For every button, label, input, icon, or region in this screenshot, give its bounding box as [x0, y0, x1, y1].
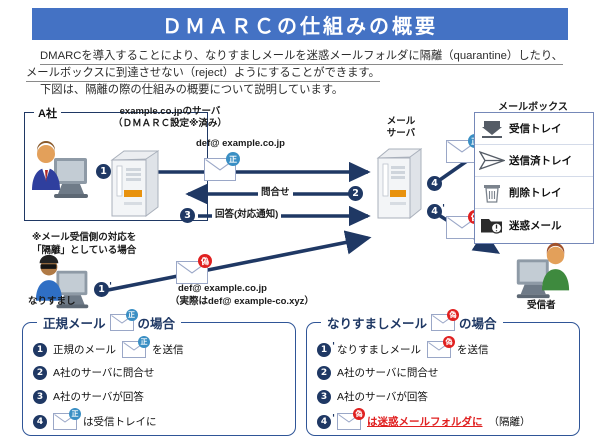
mailbox-row-trash[interactable]: 削除トレイ [475, 177, 593, 209]
company-label: A社 [34, 105, 61, 121]
recipient-person-icon [508, 240, 574, 302]
legend-left-text-1b: を送信 [152, 342, 184, 357]
legend-right-text-1a: なりすましメール [337, 342, 421, 357]
legend-right-text-2: A社のサーバに問合せ [337, 365, 438, 380]
mailbox-panel: 受信トレイ 送信済トレイ 削除トレイ [474, 112, 594, 244]
legend-right-title-stamp: 偽 [447, 309, 459, 321]
legend-left-title-envelope: 正 [110, 314, 134, 331]
legend-left-envelope-4: 正 [53, 413, 77, 430]
trash-icon [475, 183, 509, 203]
step-3-badge: 3 [180, 208, 195, 223]
header-banner: ＤＭＡＲＣの仕組みの概要 [32, 8, 568, 40]
legend-left-title: 正規メール 正 の場合 [37, 313, 181, 332]
legend-left-row-1: 1 正規のメール 正 を送信 [33, 341, 184, 358]
company-server-label-2: （ＤＭＡＲＣ設定※済み） [96, 118, 244, 130]
fake-mail-actual-address: （実際はdef@ example-co.xyz） [170, 296, 314, 308]
legend-spoofed-mail: なりすましメール 偽 の場合 1 なりすましメール 偽 を送信 2 A社のサーバ… [306, 322, 580, 436]
inquiry-arrow-label: 問合せ [258, 187, 293, 199]
mailbox-label-sent: 送信済トレイ [509, 153, 572, 168]
sender-person-icon [28, 138, 94, 202]
diagram-canvas: A社 example.co.jpのサーバ （ＤＭＡＲＣ設定※済み） ※メール受信… [0, 100, 600, 318]
fake-mail-address: def@ example.co.jp [178, 283, 267, 295]
intro-paragraph: DMARCを導入することにより、なりすましメールを迷惑メールフォルダに隔離（qu… [26, 48, 582, 99]
legend-right-stamp-1: 偽 [443, 336, 455, 348]
mail-server-label-2: サーバ [358, 128, 444, 140]
mailbox-row-sent[interactable]: 送信済トレイ [475, 145, 593, 177]
fake-mail-stamp: 偽 [198, 254, 212, 268]
mailbox-label-spam: 迷惑メール [509, 218, 562, 233]
sent-icon [475, 151, 509, 170]
legend-left-text-3: A社のサーバが回答 [53, 389, 144, 404]
legend-left-title-post: の場合 [138, 313, 176, 332]
legend-left-stamp-4: 正 [69, 408, 81, 420]
company-server-icon [104, 146, 168, 220]
legend-left-num-3: 3 [33, 390, 47, 404]
step-2-badge: 2 [348, 186, 363, 201]
legend-left-num-4: 4 [33, 415, 47, 429]
step-1-badge: 1 [96, 164, 111, 179]
legend-right-row-1: 1 なりすましメール 偽 を送信 [317, 341, 489, 358]
legend-left-title-stamp: 正 [126, 309, 138, 321]
legend-right-num-3: 3 [317, 390, 331, 404]
legend-right-text-3: A社のサーバが回答 [337, 389, 428, 404]
legend-right-title-pre: なりすましメール [327, 313, 427, 332]
legend-left-num-2: 2 [33, 366, 47, 380]
mailbox-row-inbox[interactable]: 受信トレイ [475, 113, 593, 145]
spoofer-label: なりすまし [28, 296, 76, 308]
legend-left-stamp-1: 正 [138, 336, 150, 348]
legend-left-num-1: 1 [33, 343, 47, 357]
mailbox-title: メールボックス [474, 98, 592, 113]
legend-right-envelope-4: 偽 [337, 413, 361, 430]
inbox-icon [475, 119, 509, 138]
legend-right-envelope-1: 偽 [427, 341, 451, 358]
legend-right-title: なりすましメール 偽 の場合 [321, 313, 503, 332]
company-server-label-1: example.co.jpのサーバ [96, 106, 244, 118]
legend-right-text-1b: を送信 [457, 342, 489, 357]
legend-right-stamp-4: 偽 [353, 408, 365, 420]
legend-left-title-pre: 正規メール [43, 313, 106, 332]
legend-left-row-3: 3 A社のサーバが回答 [33, 389, 144, 404]
legend-right-num-4: 4 [317, 415, 331, 429]
legend-legitimate-mail: 正規メール 正 の場合 1 正規のメール 正 を送信 2 A社のサーバに問合せ … [22, 322, 296, 436]
mailbox-label-trash: 削除トレイ [509, 185, 562, 200]
legend-left-row-2: 2 A社のサーバに問合せ [33, 365, 154, 380]
legend-left-envelope-1: 正 [122, 341, 146, 358]
legend-right-num-1: 1 [317, 343, 331, 357]
legend-right-row-4: 4 偽 は迷惑メールフォルダに （隔離） [317, 413, 531, 430]
legit-mail-stamp: 正 [226, 152, 240, 166]
legend-left-text-2: A社のサーバに問合せ [53, 365, 154, 380]
mailbox-label-inbox: 受信トレイ [509, 121, 562, 136]
legend-left-row-4: 4 正 は受信トレイに [33, 413, 157, 430]
mailbox-row-spam[interactable]: 迷惑メール [475, 209, 593, 241]
quarantine-note-line-1: ※メール受信側の対応を [32, 232, 136, 244]
mail-server-label-1: メール [358, 116, 444, 128]
legend-right-text-4-red: は迷惑メールフォルダに [367, 414, 483, 429]
spam-icon [475, 215, 509, 235]
legend-left-text-4: は受信トレイに [83, 414, 157, 429]
recipient-label: 受信者 [527, 300, 556, 312]
page-title: ＤＭＡＲＣの仕組みの概要 [162, 10, 438, 39]
legend-right-num-2: 2 [317, 366, 331, 380]
legend-right-row-2: 2 A社のサーバに問合せ [317, 365, 438, 380]
answer-arrow-label: 回答(対応通知) [212, 209, 281, 221]
legend-left-text-1a: 正規のメール [53, 342, 116, 357]
intro-line-3: 下図は、隔離の際の仕組みの概要について説明しています。 [26, 82, 582, 99]
legend-right-title-post: の場合 [459, 313, 497, 332]
legend-right-text-4: （隔離） [489, 414, 531, 429]
intro-line-2: メールボックスに到達させない（reject）ようにすることができます。 [26, 65, 582, 82]
legit-mail-address: def@ example.co.jp [196, 138, 285, 150]
mail-server-icon [372, 144, 430, 226]
intro-line-1: DMARCを導入することにより、なりすましメールを迷惑メールフォルダに隔離（qu… [26, 48, 582, 65]
legend-right-row-3: 3 A社のサーバが回答 [317, 389, 428, 404]
legend-right-title-envelope: 偽 [431, 314, 455, 331]
step-1-prime-badge: 1 [94, 282, 109, 297]
